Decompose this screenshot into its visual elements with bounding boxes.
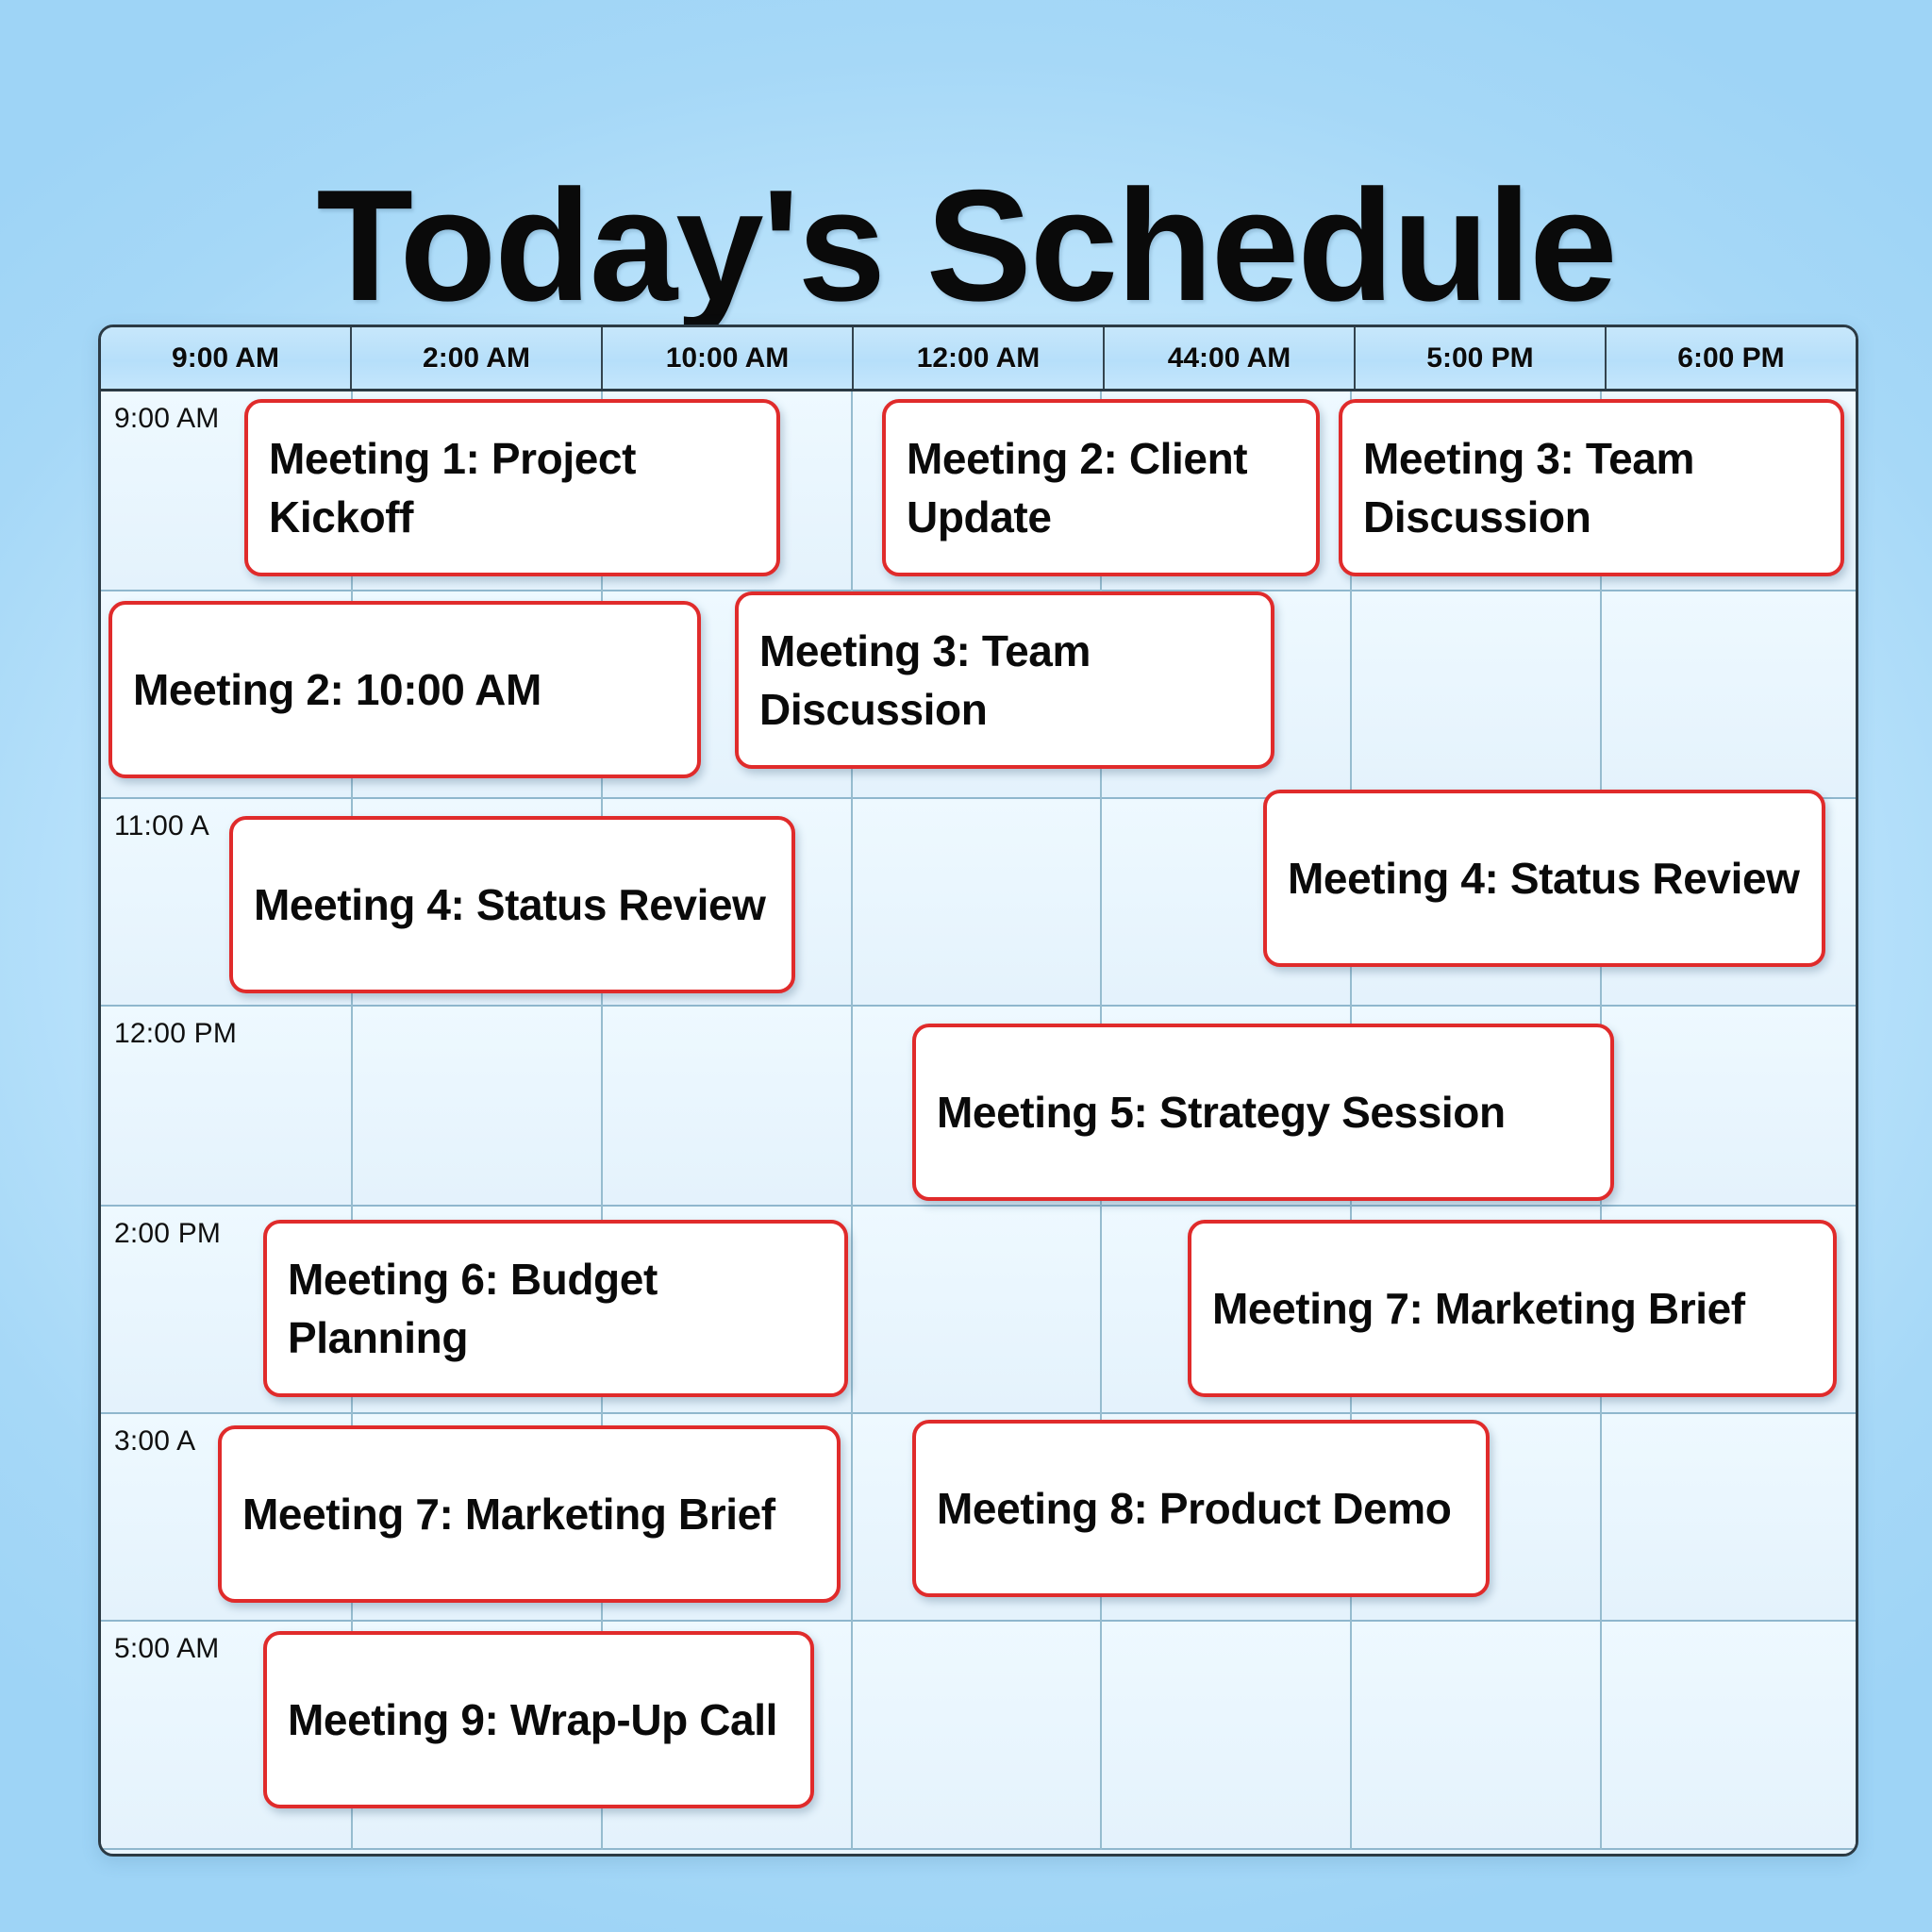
event-card[interactable]: Meeting 2: 10:00 AM	[108, 601, 701, 778]
event-title: Meeting 2: 10:00 AM	[133, 660, 541, 719]
column-header-6[interactable]: 6:00 PM	[1607, 327, 1856, 389]
event-card[interactable]: Meeting 6: Budget Planning	[263, 1220, 848, 1397]
row-time-label-6: 5:00 AM	[114, 1633, 219, 1665]
event-title: Meeting 3: Team Discussion	[759, 622, 1250, 739]
event-card[interactable]: Meeting 2: Client Update	[882, 399, 1320, 576]
event-title: Meeting 5: Strategy Session	[937, 1083, 1506, 1141]
event-card[interactable]: Meeting 4: Status Review	[229, 816, 795, 993]
row-time-label-2: 11:00 A	[114, 810, 209, 842]
event-title: Meeting 4: Status Review	[254, 875, 766, 934]
event-card[interactable]: Meeting 9: Wrap-Up Call	[263, 1631, 814, 1808]
event-card[interactable]: Meeting 5: Strategy Session	[912, 1024, 1614, 1201]
row-time-label-5: 3:00 A	[114, 1425, 195, 1457]
event-title: Meeting 1: Project Kickoff	[269, 429, 756, 546]
row-time-label-4: 2:00 PM	[114, 1218, 221, 1250]
schedule-calendar: 9:00 AM2:00 AM10:00 AM12:00 AM44:00 AM5:…	[98, 325, 1858, 1857]
event-title: Meeting 3: Team Discussion	[1363, 429, 1820, 546]
page-title: Today's Schedule	[0, 156, 1932, 335]
schedule-page: Today's Schedule 9:00 AM2:00 AM10:00 AM1…	[0, 0, 1932, 1932]
event-title: Meeting 9: Wrap-Up Call	[288, 1690, 777, 1749]
row-time-label-0: 9:00 AM	[114, 403, 219, 435]
column-header-1[interactable]: 2:00 AM	[352, 327, 603, 389]
column-header-3[interactable]: 12:00 AM	[854, 327, 1105, 389]
column-header-2[interactable]: 10:00 AM	[603, 327, 854, 389]
calendar-column-header-row: 9:00 AM2:00 AM10:00 AM12:00 AM44:00 AM5:…	[101, 327, 1856, 391]
event-title: Meeting 7: Marketing Brief	[242, 1485, 775, 1543]
event-card[interactable]: Meeting 4: Status Review	[1263, 790, 1825, 967]
event-title: Meeting 4: Status Review	[1288, 849, 1800, 908]
event-title: Meeting 7: Marketing Brief	[1212, 1279, 1745, 1338]
event-title: Meeting 8: Product Demo	[937, 1479, 1451, 1538]
event-title: Meeting 6: Budget Planning	[288, 1250, 824, 1367]
calendar-body: 9:00 AM10:00 AM11:00 A12:00 PM2:00 PM3:0…	[101, 391, 1856, 1854]
event-card[interactable]: Meeting 3: Team Discussion	[735, 591, 1274, 769]
event-card[interactable]: Meeting 3: Team Discussion	[1339, 399, 1844, 576]
event-title: Meeting 2: Client Update	[907, 429, 1295, 546]
column-header-4[interactable]: 44:00 AM	[1105, 327, 1356, 389]
column-header-0[interactable]: 9:00 AM	[101, 327, 352, 389]
event-card[interactable]: Meeting 8: Product Demo	[912, 1420, 1490, 1597]
column-header-5[interactable]: 5:00 PM	[1356, 327, 1607, 389]
event-card[interactable]: Meeting 7: Marketing Brief	[1188, 1220, 1837, 1397]
event-card[interactable]: Meeting 1: Project Kickoff	[244, 399, 780, 576]
row-time-label-3: 12:00 PM	[114, 1018, 237, 1050]
event-card[interactable]: Meeting 7: Marketing Brief	[218, 1425, 841, 1603]
